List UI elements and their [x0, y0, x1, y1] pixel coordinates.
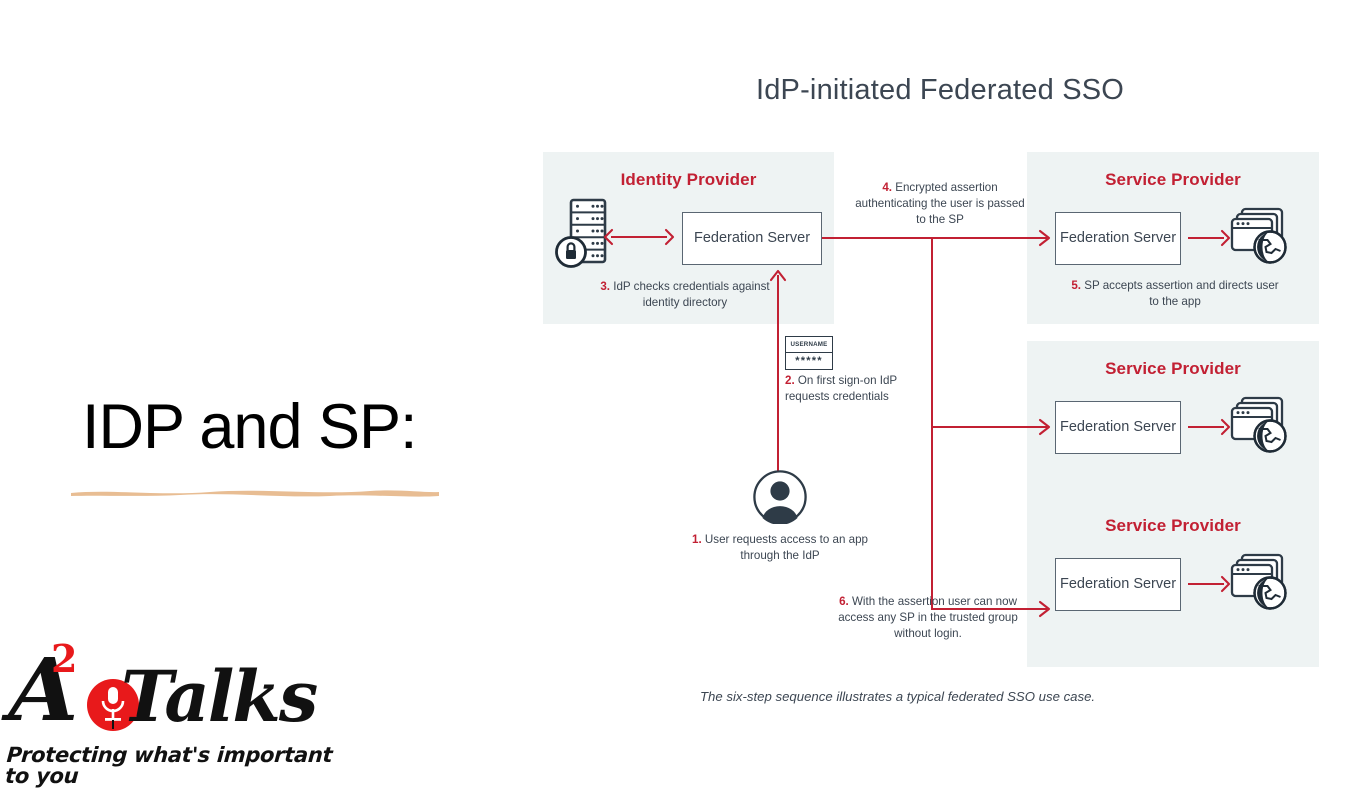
- connector-branch-sp2: [931, 426, 1047, 428]
- step-5-label: SP accepts assertion and directs user to…: [1084, 279, 1278, 308]
- bidirectional-arrow-icon: [602, 227, 676, 247]
- identity-provider-title: Identity Provider: [543, 170, 834, 190]
- credentials-password-box: *****: [785, 352, 833, 370]
- step-5-text: 5. SP accepts assertion and directs user…: [1070, 278, 1280, 310]
- service-provider-2-title: Service Provider: [1027, 359, 1319, 379]
- idp-federation-server-box: Federation Server: [682, 212, 822, 265]
- step-6-text: 6. With the assertion user can now acces…: [833, 594, 1023, 641]
- step-4-number: 4.: [882, 181, 892, 194]
- diagram-caption: The six-step sequence illustrates a typi…: [700, 689, 1320, 704]
- sp1-federation-server-label: Federation Server: [1060, 230, 1176, 247]
- step-6-label: With the assertion user can now access a…: [838, 595, 1018, 640]
- browser-windows-globe-icon-2: [1228, 394, 1290, 456]
- logo-superscript-2: 2: [51, 640, 77, 678]
- connector-trunk-vertical: [931, 237, 933, 610]
- logo-tagline: Protecting what's important to you: [5, 745, 336, 787]
- arrow-sp3-to-app-icon: [1188, 574, 1232, 594]
- page-title: IDP and SP:: [82, 396, 417, 459]
- credentials-username-label: USERNAME: [790, 341, 827, 348]
- service-provider-3-title: Service Provider: [1027, 516, 1319, 536]
- connector-idp-to-trunk: [820, 237, 935, 239]
- sp3-federation-server-label: Federation Server: [1060, 576, 1176, 593]
- browser-windows-globe-icon-3: [1228, 551, 1290, 613]
- sp3-federation-server-box: Federation Server: [1055, 558, 1181, 611]
- step-6-number: 6.: [839, 595, 849, 608]
- step-4-label: Encrypted assertion authenticating the u…: [855, 181, 1025, 226]
- sp2-federation-server-label: Federation Server: [1060, 419, 1176, 436]
- browser-windows-globe-icon-1: [1228, 205, 1290, 267]
- step-1-text: 1. User requests access to an app throug…: [690, 532, 870, 564]
- logo-wordmark-talks: Talks: [121, 662, 316, 732]
- credentials-username-box: USERNAME: [785, 336, 833, 353]
- slide-canvas: IDP and SP: A 2 Talks Protecting what's …: [0, 0, 1366, 768]
- federated-sso-diagram: IdP-initiated Federated SSO: [540, 60, 1340, 720]
- diagram-title: IdP-initiated Federated SSO: [540, 74, 1340, 107]
- sp2-federation-server-box: Federation Server: [1055, 401, 1181, 454]
- step-3-number: 3.: [600, 280, 610, 293]
- connector-branch-sp1: [931, 237, 1047, 239]
- step-1-label: User requests access to an app through t…: [705, 533, 868, 562]
- arrow-sp1-to-app-icon: [1188, 228, 1232, 248]
- title-underline-brushstroke: [70, 487, 440, 498]
- step-3-text: 3. IdP checks credentials against identi…: [595, 279, 775, 311]
- step-4-text: 4. Encrypted assertion authenticating th…: [850, 180, 1030, 227]
- step-2-label: On first sign-on IdP requests credential…: [785, 374, 897, 403]
- logo: A 2 Talks Protecting what's important to…: [4, 640, 334, 764]
- idp-federation-server-label: Federation Server: [694, 230, 810, 247]
- sp1-federation-server-box: Federation Server: [1055, 212, 1181, 265]
- step-2-number: 2.: [785, 374, 795, 387]
- credentials-form-icon: USERNAME *****: [785, 336, 833, 369]
- step-5-number: 5.: [1071, 279, 1081, 292]
- user-avatar-icon: [753, 470, 807, 524]
- step-1-number: 1.: [692, 533, 702, 546]
- arrow-sp2-to-app-icon: [1188, 417, 1232, 437]
- credentials-password-mask: *****: [795, 356, 822, 367]
- step-3-label: IdP checks credentials against identity …: [613, 280, 769, 309]
- service-provider-1-title: Service Provider: [1027, 170, 1319, 190]
- step-2-text: 2. On first sign-on IdP requests credent…: [785, 373, 905, 405]
